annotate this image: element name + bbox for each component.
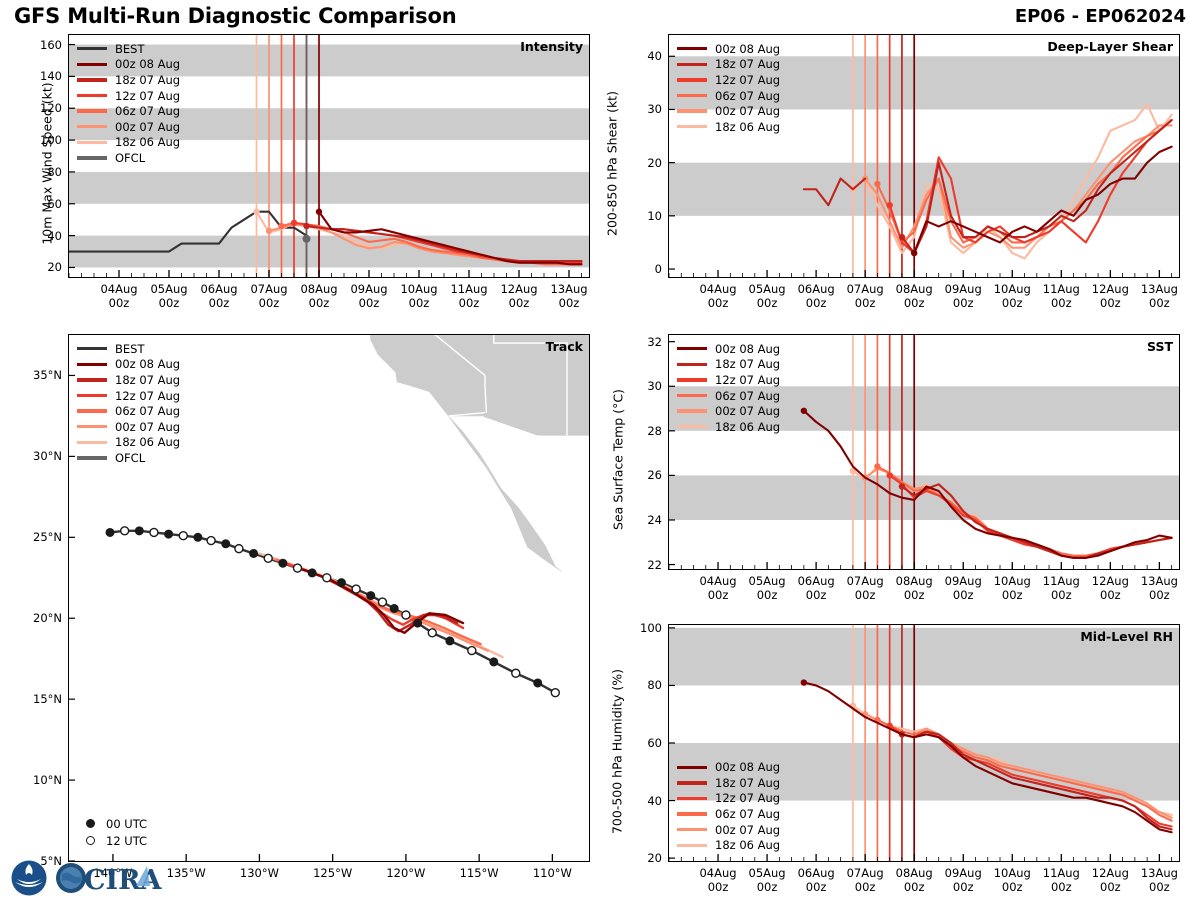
y-tick-label: 40 bbox=[22, 229, 62, 243]
legend-entry[interactable]: 06z 07 Aug bbox=[677, 388, 780, 404]
legend-entry[interactable]: 12z 07 Aug bbox=[677, 72, 780, 88]
legend-label: 18z 07 Aug bbox=[715, 776, 780, 790]
y-tick-label: 40 bbox=[622, 794, 662, 808]
legend-entry[interactable]: 12z 07 Aug bbox=[77, 388, 180, 404]
legend-label: 18z 06 Aug bbox=[715, 120, 780, 134]
x-tick-label: 12Aug00z bbox=[1092, 866, 1129, 894]
y-band bbox=[669, 475, 1179, 520]
legend-color-swatch bbox=[77, 363, 107, 366]
legend-entry[interactable]: 18z 07 Aug bbox=[77, 72, 180, 88]
legend-entry[interactable]: 12z 07 Aug bbox=[677, 372, 780, 388]
track-point-00utc bbox=[308, 569, 316, 577]
legend-color-swatch bbox=[77, 156, 107, 159]
legend-entry[interactable]: 12z 07 Aug bbox=[677, 791, 780, 807]
legend-label: 00z 07 Aug bbox=[715, 404, 780, 418]
y-tick-label: 140 bbox=[22, 69, 62, 83]
series-start-marker bbox=[253, 209, 259, 215]
x-tick-label: 11Aug00z bbox=[1043, 282, 1080, 310]
legend-label: 18z 07 Aug bbox=[115, 373, 180, 387]
series-start-marker bbox=[874, 181, 880, 187]
legend-color-swatch bbox=[677, 94, 707, 97]
rh-panel: Mid-Level RH 00z 08 Aug18z 07 Aug12z 07 … bbox=[668, 624, 1180, 862]
x-tick-label: 07Aug00z bbox=[847, 282, 884, 310]
intensity-legend: BEST00z 08 Aug18z 07 Aug12z 07 Aug06z 07… bbox=[77, 41, 180, 166]
series-start-marker bbox=[899, 483, 905, 489]
x-tick-label: 08Aug00z bbox=[896, 574, 933, 602]
legend-entry[interactable]: 00z 08 Aug bbox=[677, 341, 780, 357]
track-point-00utc bbox=[250, 549, 258, 557]
legend-color-swatch bbox=[77, 409, 107, 412]
legend-label: 12z 07 Aug bbox=[115, 89, 180, 103]
y-tick-label: 40 bbox=[622, 49, 662, 63]
y-tick-label: 28 bbox=[622, 424, 662, 438]
legend-entry[interactable]: 06z 07 Aug bbox=[677, 806, 780, 822]
y-tick-label: 100 bbox=[622, 621, 662, 635]
track-line bbox=[110, 531, 555, 693]
legend-entry[interactable]: 00z 08 Aug bbox=[77, 357, 180, 373]
legend-label: 00z 07 Aug bbox=[115, 420, 180, 434]
track-point-00utc bbox=[534, 679, 542, 687]
x-tick-label: 09Aug00z bbox=[350, 282, 387, 310]
lon-tick-label: 120°W bbox=[386, 866, 425, 880]
legend-label: 00z 08 Aug bbox=[115, 57, 180, 71]
open-marker-icon bbox=[86, 836, 95, 845]
legend-label: 12z 07 Aug bbox=[715, 791, 780, 805]
legend-color-swatch bbox=[77, 63, 107, 66]
legend-entry[interactable]: OFCL bbox=[77, 150, 180, 166]
legend-entry[interactable]: 00z 08 Aug bbox=[77, 57, 180, 73]
y-tick-label: 20 bbox=[622, 156, 662, 170]
x-tick-label: 05Aug00z bbox=[749, 282, 786, 310]
legend-color-swatch bbox=[677, 109, 707, 112]
legend-color-swatch bbox=[677, 409, 707, 412]
y-tick-label: 24 bbox=[622, 513, 662, 527]
x-tick-label: 09Aug00z bbox=[945, 574, 982, 602]
legend-entry[interactable]: 12z 07 Aug bbox=[77, 88, 180, 104]
y-tick-label: 60 bbox=[622, 736, 662, 750]
track-point-00utc bbox=[135, 527, 143, 535]
x-tick-label: 06Aug00z bbox=[798, 574, 835, 602]
x-tick-label: 06Aug00z bbox=[798, 282, 835, 310]
x-tick-label: 13Aug00z bbox=[1141, 574, 1178, 602]
legend-label: 00z 07 Aug bbox=[115, 120, 180, 134]
storm-identifier: EP06 - EP062024 bbox=[1015, 6, 1186, 27]
shear-panel: Deep-Layer Shear 00z 08 Aug18z 07 Aug12z… bbox=[668, 34, 1180, 278]
y-tick-label: 30 bbox=[622, 102, 662, 116]
y-tick-label: 26 bbox=[622, 468, 662, 482]
series-start-marker bbox=[278, 223, 284, 229]
marker-legend-label: 00 UTC bbox=[106, 817, 147, 831]
x-tick-label: 09Aug00z bbox=[945, 866, 982, 894]
y-tick-label: 80 bbox=[622, 678, 662, 692]
legend-label: 06z 07 Aug bbox=[715, 389, 780, 403]
series-start-marker bbox=[266, 228, 272, 234]
legend-entry[interactable]: 18z 07 Aug bbox=[77, 372, 180, 388]
lon-tick-label: 110°W bbox=[533, 866, 572, 880]
track-point-00utc bbox=[446, 637, 454, 645]
track-point-12utc bbox=[179, 532, 187, 540]
track-point-00utc bbox=[106, 528, 114, 536]
legend-label: 12z 07 Aug bbox=[115, 389, 180, 403]
legend-color-swatch bbox=[677, 797, 707, 800]
sst-panel-title: SST bbox=[1147, 339, 1173, 354]
legend-color-swatch bbox=[677, 347, 707, 350]
legend-label: 00z 08 Aug bbox=[715, 342, 780, 356]
lat-tick-label: 20°N bbox=[10, 611, 62, 625]
x-tick-label: 07Aug00z bbox=[847, 574, 884, 602]
legend-label: 06z 07 Aug bbox=[715, 807, 780, 821]
x-tick-label: 07Aug00z bbox=[250, 282, 287, 310]
legend-entry[interactable]: 18z 06 Aug bbox=[77, 435, 180, 451]
legend-entry[interactable]: 00z 08 Aug bbox=[677, 41, 780, 57]
track-point-12utc bbox=[378, 598, 386, 606]
intensity-panel-title: Intensity bbox=[520, 39, 583, 54]
x-tick-label: 08Aug00z bbox=[896, 282, 933, 310]
rh-legend: 00z 08 Aug18z 07 Aug12z 07 Aug06z 07 Aug… bbox=[677, 759, 780, 853]
y-tick-label: 80 bbox=[22, 165, 62, 179]
y-band bbox=[69, 172, 589, 204]
x-tick-label: 04Aug00z bbox=[100, 282, 137, 310]
legend-label: BEST bbox=[115, 342, 144, 356]
series-start-marker bbox=[886, 202, 892, 208]
x-tick-label: 10Aug00z bbox=[994, 574, 1031, 602]
shear-panel-title: Deep-Layer Shear bbox=[1047, 39, 1173, 54]
legend-color-swatch bbox=[677, 812, 707, 815]
lon-tick-label: 135°W bbox=[167, 866, 206, 880]
ofcl-marker bbox=[303, 235, 311, 243]
legend-color-swatch bbox=[677, 125, 707, 128]
track-point-12utc bbox=[294, 564, 302, 572]
legend-label: 06z 07 Aug bbox=[115, 104, 180, 118]
track-point-12utc bbox=[551, 689, 559, 697]
track-point-12utc bbox=[468, 647, 476, 655]
series-start-marker bbox=[303, 223, 309, 229]
track-point-12utc bbox=[323, 574, 331, 582]
series-start-marker bbox=[801, 408, 807, 414]
track-point-00utc bbox=[222, 540, 230, 548]
legend-label: 18z 06 Aug bbox=[115, 135, 180, 149]
legend-label: 00z 07 Aug bbox=[715, 823, 780, 837]
track-point-12utc bbox=[512, 669, 520, 677]
track-panel: Track BEST00z 08 Aug18z 07 Aug12z 07 Aug… bbox=[68, 334, 590, 862]
y-tick-label: 160 bbox=[22, 38, 62, 52]
track-legend: BEST00z 08 Aug18z 07 Aug12z 07 Aug06z 07… bbox=[77, 341, 180, 466]
lon-tick-label: 130°W bbox=[240, 866, 279, 880]
legend-color-swatch bbox=[677, 47, 707, 50]
track-point-12utc bbox=[402, 611, 410, 619]
x-tick-label: 12Aug00z bbox=[1092, 282, 1129, 310]
legend-color-swatch bbox=[77, 425, 107, 428]
cira-logo-icon: CIRA bbox=[50, 858, 162, 898]
track-point-12utc bbox=[264, 554, 272, 562]
page-title: GFS Multi-Run Diagnostic Comparison bbox=[14, 4, 456, 28]
legend-color-swatch bbox=[677, 844, 707, 847]
track-point-00utc bbox=[194, 533, 202, 541]
legend-color-swatch bbox=[77, 94, 107, 97]
lat-tick-label: 25°N bbox=[10, 530, 62, 544]
x-tick-label: 13Aug00z bbox=[1141, 866, 1178, 894]
x-tick-label: 12Aug00z bbox=[1092, 574, 1129, 602]
legend-entry[interactable]: 18z 07 Aug bbox=[677, 775, 780, 791]
legend-entry[interactable]: 00z 07 Aug bbox=[677, 822, 780, 838]
sst-panel: SST 00z 08 Aug18z 07 Aug12z 07 Aug06z 07… bbox=[668, 334, 1180, 570]
track-point-00utc bbox=[414, 619, 422, 627]
shear-legend: 00z 08 Aug18z 07 Aug12z 07 Aug06z 07 Aug… bbox=[677, 41, 780, 135]
series-start-marker bbox=[874, 463, 880, 469]
legend-entry[interactable]: BEST bbox=[77, 41, 180, 57]
x-tick-label: 04Aug00z bbox=[699, 866, 736, 894]
legend-color-swatch bbox=[677, 425, 707, 428]
legend-label: BEST bbox=[115, 42, 144, 56]
x-tick-label: 04Aug00z bbox=[699, 282, 736, 310]
series-start-marker bbox=[899, 234, 905, 240]
marker-legend-entry: 00 UTC bbox=[83, 815, 147, 832]
legend-color-swatch bbox=[677, 394, 707, 397]
legend-label: 12z 07 Aug bbox=[715, 73, 780, 87]
shear-y-axis-label: 200-850 hPa Shear (kt) bbox=[605, 49, 620, 279]
sst-legend: 00z 08 Aug18z 07 Aug12z 07 Aug06z 07 Aug… bbox=[677, 341, 780, 435]
x-tick-label: 08Aug00z bbox=[300, 282, 337, 310]
legend-entry[interactable]: 18z 06 Aug bbox=[77, 135, 180, 151]
rh-y-axis-label: 700-500 hPa Humidity (%) bbox=[610, 632, 625, 872]
x-tick-label: 11Aug00z bbox=[1043, 866, 1080, 894]
legend-color-swatch bbox=[77, 347, 107, 350]
x-tick-label: 09Aug00z bbox=[945, 282, 982, 310]
legend-label: 00z 07 Aug bbox=[715, 104, 780, 118]
legend-color-swatch bbox=[677, 63, 707, 66]
y-tick-label: 60 bbox=[22, 197, 62, 211]
x-tick-label: 11Aug00z bbox=[1043, 574, 1080, 602]
legend-label: 00z 08 Aug bbox=[715, 42, 780, 56]
legend-color-swatch bbox=[77, 78, 107, 81]
legend-color-swatch bbox=[677, 78, 707, 81]
lon-tick-label: 125°W bbox=[313, 866, 352, 880]
track-point-12utc bbox=[352, 585, 360, 593]
y-tick-label: 0 bbox=[622, 262, 662, 276]
y-tick-label: 20 bbox=[622, 851, 662, 865]
series-start-marker bbox=[801, 679, 807, 685]
legend-color-swatch bbox=[77, 378, 107, 381]
y-tick-label: 30 bbox=[622, 379, 662, 393]
track-point-12utc bbox=[235, 545, 243, 553]
series-start-marker bbox=[911, 250, 917, 256]
legend-label: 12z 07 Aug bbox=[715, 373, 780, 387]
legend-color-swatch bbox=[677, 363, 707, 366]
legend-entry[interactable]: 00z 07 Aug bbox=[77, 419, 180, 435]
x-tick-label: 10Aug00z bbox=[994, 866, 1031, 894]
legend-label: 18z 07 Aug bbox=[715, 57, 780, 71]
x-tick-label: 13Aug00z bbox=[1141, 282, 1178, 310]
legend-entry[interactable]: 06z 07 Aug bbox=[77, 103, 180, 119]
legend-color-swatch bbox=[77, 109, 107, 112]
legend-color-swatch bbox=[77, 456, 107, 459]
legend-entry[interactable]: OFCL bbox=[77, 450, 180, 466]
y-tick-label: 100 bbox=[22, 133, 62, 147]
track-panel-title: Track bbox=[546, 339, 583, 354]
legend-entry[interactable]: 18z 06 Aug bbox=[677, 419, 780, 435]
marker-legend-entry: 12 UTC bbox=[83, 832, 147, 849]
logo-bar: CIRA bbox=[8, 858, 162, 898]
x-tick-label: 06Aug00z bbox=[798, 866, 835, 894]
track-marker-legend: 00 UTC12 UTC bbox=[83, 815, 147, 849]
x-tick-label: 08Aug00z bbox=[896, 866, 933, 894]
series-start-marker bbox=[291, 220, 297, 226]
legend-label: 18z 06 Aug bbox=[715, 420, 780, 434]
legend-color-swatch bbox=[677, 378, 707, 381]
track-point-00utc bbox=[337, 579, 345, 587]
legend-color-swatch bbox=[77, 394, 107, 397]
legend-label: 18z 06 Aug bbox=[115, 435, 180, 449]
legend-entry[interactable]: BEST bbox=[77, 341, 180, 357]
legend-label: OFCL bbox=[115, 151, 145, 165]
svg-text:CIRA: CIRA bbox=[84, 865, 162, 896]
track-point-12utc bbox=[207, 537, 215, 545]
lat-tick-label: 30°N bbox=[10, 449, 62, 463]
track-point-12utc bbox=[150, 528, 158, 536]
track-point-00utc bbox=[490, 658, 498, 666]
legend-entry[interactable]: 00z 08 Aug bbox=[677, 759, 780, 775]
legend-entry[interactable]: 00z 07 Aug bbox=[77, 119, 180, 135]
legend-label: 06z 07 Aug bbox=[715, 89, 780, 103]
legend-color-swatch bbox=[77, 141, 107, 144]
legend-entry[interactable]: 18z 06 Aug bbox=[677, 837, 780, 853]
legend-color-swatch bbox=[77, 125, 107, 128]
marker-legend-label: 12 UTC bbox=[106, 834, 147, 848]
track-point-12utc bbox=[121, 527, 129, 535]
x-tick-label: 05Aug00z bbox=[749, 866, 786, 894]
y-tick-label: 120 bbox=[22, 101, 62, 115]
legend-label: 00z 08 Aug bbox=[115, 357, 180, 371]
track-point-00utc bbox=[367, 592, 375, 600]
x-tick-label: 05Aug00z bbox=[150, 282, 187, 310]
lat-tick-label: 10°N bbox=[10, 773, 62, 787]
x-tick-label: 11Aug00z bbox=[450, 282, 487, 310]
figure-root: GFS Multi-Run Diagnostic Comparison EP06… bbox=[0, 0, 1200, 900]
y-tick-label: 10 bbox=[622, 209, 662, 223]
track-point-00utc bbox=[279, 559, 287, 567]
legend-color-swatch bbox=[77, 47, 107, 50]
legend-label: 18z 06 Aug bbox=[715, 838, 780, 852]
intensity-panel: Intensity BEST00z 08 Aug18z 07 Aug12z 07… bbox=[68, 34, 590, 278]
legend-entry[interactable]: 06z 07 Aug bbox=[677, 88, 780, 104]
series-start-marker bbox=[886, 472, 892, 478]
track-point-00utc bbox=[390, 605, 398, 613]
legend-color-swatch bbox=[677, 828, 707, 831]
legend-color-swatch bbox=[677, 766, 707, 769]
legend-color-swatch bbox=[677, 781, 707, 784]
x-tick-label: 04Aug00z bbox=[699, 574, 736, 602]
legend-entry[interactable]: 18z 07 Aug bbox=[677, 357, 780, 373]
rh-panel-title: Mid-Level RH bbox=[1080, 629, 1173, 644]
y-tick-label: 22 bbox=[622, 558, 662, 572]
legend-entry[interactable]: 18z 07 Aug bbox=[677, 57, 780, 73]
track-point-12utc bbox=[428, 629, 436, 637]
legend-entry[interactable]: 00z 07 Aug bbox=[677, 103, 780, 119]
filled-marker-icon bbox=[86, 819, 95, 828]
lon-tick-label: 115°W bbox=[460, 866, 499, 880]
noaa-logo-icon bbox=[8, 859, 50, 897]
x-tick-label: 07Aug00z bbox=[847, 866, 884, 894]
x-tick-label: 05Aug00z bbox=[749, 574, 786, 602]
legend-label: 00z 08 Aug bbox=[715, 760, 780, 774]
legend-label: 18z 07 Aug bbox=[715, 357, 780, 371]
legend-label: 06z 07 Aug bbox=[115, 404, 180, 418]
lat-tick-label: 15°N bbox=[10, 692, 62, 706]
y-tick-label: 32 bbox=[622, 335, 662, 349]
legend-color-swatch bbox=[77, 441, 107, 444]
legend-entry[interactable]: 00z 07 Aug bbox=[677, 403, 780, 419]
legend-entry[interactable]: 18z 06 Aug bbox=[677, 119, 780, 135]
legend-label: 18z 07 Aug bbox=[115, 73, 180, 87]
y-tick-label: 20 bbox=[22, 260, 62, 274]
legend-label: OFCL bbox=[115, 451, 145, 465]
x-tick-label: 10Aug00z bbox=[994, 282, 1031, 310]
x-tick-label: 12Aug00z bbox=[500, 282, 537, 310]
legend-entry[interactable]: 06z 07 Aug bbox=[77, 403, 180, 419]
x-tick-label: 13Aug00z bbox=[550, 282, 587, 310]
x-tick-label: 06Aug00z bbox=[200, 282, 237, 310]
lat-tick-label: 35°N bbox=[10, 368, 62, 382]
series-start-marker bbox=[316, 209, 322, 215]
track-point-00utc bbox=[165, 530, 173, 538]
x-tick-label: 10Aug00z bbox=[400, 282, 437, 310]
